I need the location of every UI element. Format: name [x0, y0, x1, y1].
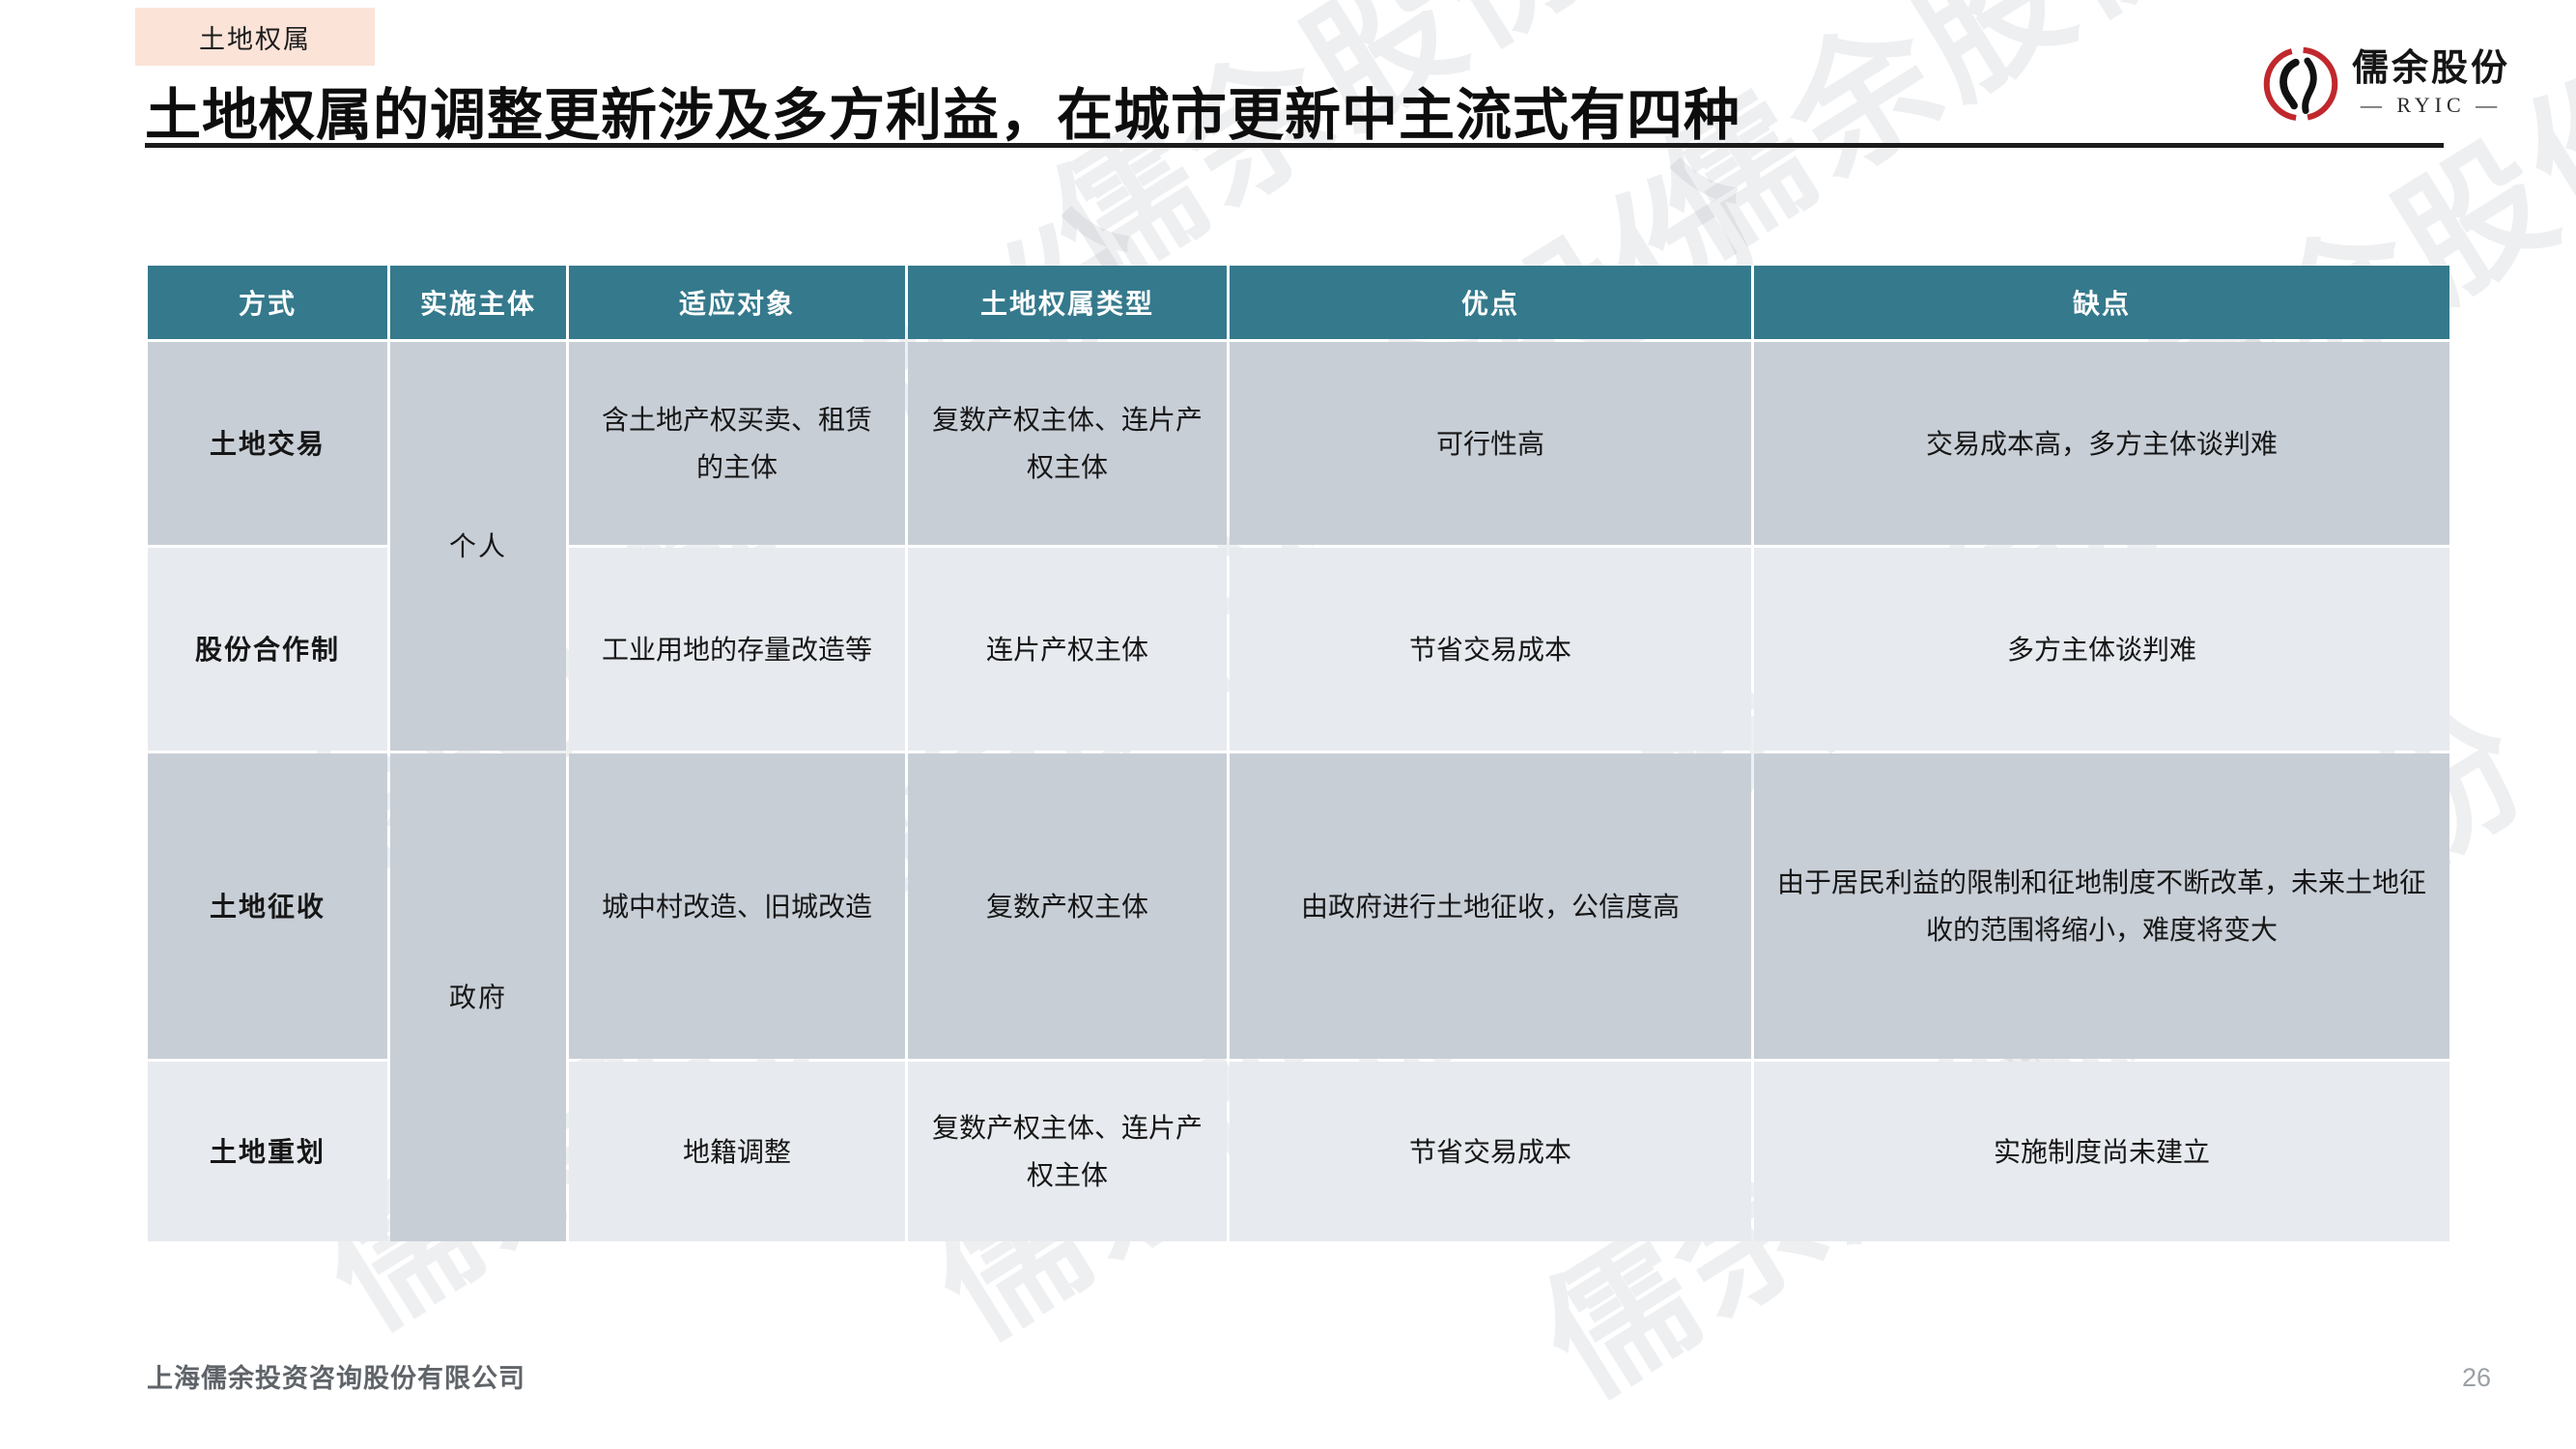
section-tag-chip: 土地权属	[135, 8, 375, 66]
cell-mode: 土地重划	[148, 1062, 387, 1241]
column-header-pros: 优点	[1230, 266, 1751, 339]
footer-company-name: 上海儒余投资咨询股份有限公司	[147, 1357, 525, 1395]
page-title: 土地权属的调整更新涉及多方利益，在城市更新中主流式有四种	[145, 70, 1741, 151]
section-tag-label: 土地权属	[199, 18, 311, 56]
cell-target: 工业用地的存量改造等	[569, 548, 905, 751]
cell-mode: 土地交易	[148, 342, 387, 545]
brand-logo-text: 儒余股份 — RYIC —	[2352, 50, 2510, 118]
cell-target: 城中村改造、旧城改造	[569, 753, 905, 1059]
land-ownership-table: 方式 实施主体 适应对象 土地权属类型 优点 缺点 土地交易 个人 含土地产权买…	[145, 263, 2452, 1244]
column-header-target: 适应对象	[569, 266, 905, 339]
cell-subject: 个人	[390, 342, 566, 751]
column-header-ownership-type: 土地权属类型	[908, 266, 1227, 339]
cell-target: 地籍调整	[569, 1062, 905, 1241]
cell-mode: 股份合作制	[148, 548, 387, 751]
cell-subject: 政府	[390, 753, 566, 1241]
cell-pros: 由政府进行土地征收，公信度高	[1230, 753, 1751, 1059]
cell-ownership-type: 连片产权主体	[908, 548, 1227, 751]
cell-pros: 节省交易成本	[1230, 548, 1751, 751]
cell-cons: 多方主体谈判难	[1754, 548, 2449, 751]
cell-cons: 交易成本高，多方主体谈判难	[1754, 342, 2449, 545]
brand-logo: 儒余股份 — RYIC —	[2259, 43, 2510, 126]
cell-cons: 实施制度尚未建立	[1754, 1062, 2449, 1241]
brand-name-cn: 儒余股份	[2352, 50, 2510, 89]
cell-ownership-type: 复数产权主体	[908, 753, 1227, 1059]
cell-cons: 由于居民利益的限制和征地制度不断改革，未来土地征收的范围将缩小，难度将变大	[1754, 753, 2449, 1059]
column-header-mode: 方式	[148, 266, 387, 339]
ryic-circle-logo-icon	[2259, 43, 2342, 126]
table-header-row: 方式 实施主体 适应对象 土地权属类型 优点 缺点	[148, 266, 2449, 339]
cell-pros: 节省交易成本	[1230, 1062, 1751, 1241]
cell-ownership-type: 复数产权主体、连片产权主体	[908, 342, 1227, 545]
page-number: 26	[2462, 1363, 2491, 1393]
cell-pros: 可行性高	[1230, 342, 1751, 545]
brand-name-en: — RYIC —	[2361, 93, 2502, 118]
cell-ownership-type: 复数产权主体、连片产权主体	[908, 1062, 1227, 1241]
cell-target: 含土地产权买卖、租赁的主体	[569, 342, 905, 545]
table-row: 土地交易 个人 含土地产权买卖、租赁的主体 复数产权主体、连片产权主体 可行性高…	[148, 342, 2449, 545]
table-row: 土地征收 政府 城中村改造、旧城改造 复数产权主体 由政府进行土地征收，公信度高…	[148, 753, 2449, 1059]
column-header-subject: 实施主体	[390, 266, 566, 339]
cell-mode: 土地征收	[148, 753, 387, 1059]
column-header-cons: 缺点	[1754, 266, 2449, 339]
